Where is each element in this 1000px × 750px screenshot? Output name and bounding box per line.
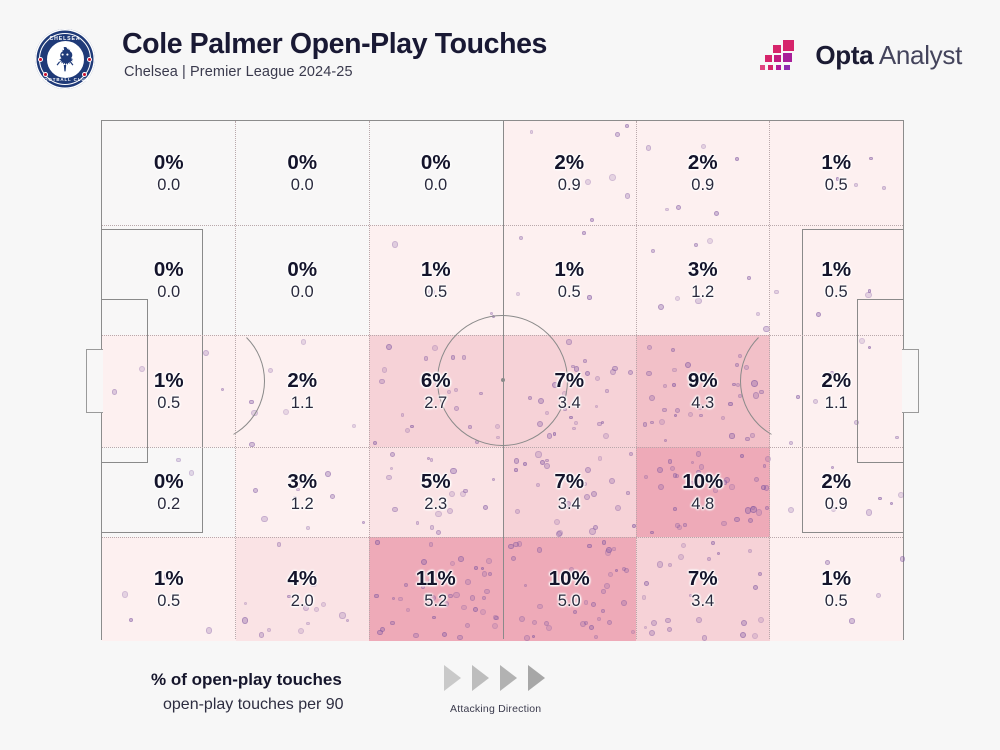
cell-percent: 0% <box>102 259 236 281</box>
cell-per-90: 0.5 <box>369 284 503 301</box>
cell-per-90: 3.4 <box>503 496 637 513</box>
cell-percent: 2% <box>503 152 637 174</box>
cell-per-90: 3.4 <box>503 395 637 412</box>
heatmap-cell-r1-c2: 0%0.0 <box>236 121 370 225</box>
heatmap-cell-r5-c6: 1%0.5 <box>770 537 904 641</box>
cell-percent: 7% <box>503 471 637 493</box>
cell-per-90: 3.4 <box>636 593 770 610</box>
cell-percent: 10% <box>636 471 770 493</box>
cell-per-90: 0.2 <box>102 496 236 513</box>
cell-percent: 1% <box>770 568 904 590</box>
cell-per-90: 0.9 <box>636 177 770 194</box>
page-subtitle: Chelsea | Premier League 2024-25 <box>124 64 353 80</box>
cell-per-90: 0.0 <box>102 284 236 301</box>
opta-wordmark: Opta Analyst <box>815 40 962 71</box>
cell-per-90: 0.0 <box>236 284 370 301</box>
cell-percent: 0% <box>102 152 236 174</box>
heatmap-cell-r4-c2: 3%1.2 <box>236 447 370 537</box>
heatmap-cell-r2-c4: 1%0.5 <box>503 225 637 335</box>
heatmap-cell-r1-c6: 1%0.5 <box>770 121 904 225</box>
cell-per-90: 0.5 <box>770 593 904 610</box>
heatmap-cell-r3-c6: 2%1.1 <box>770 335 904 447</box>
play-triangle-right-icon <box>500 665 517 691</box>
cell-percent: 7% <box>503 370 637 392</box>
cell-percent: 6% <box>369 370 503 392</box>
heatmap-cell-r1-c4: 2%0.9 <box>503 121 637 225</box>
cell-percent: 2% <box>236 370 370 392</box>
opta-analyst-logo: Opta Analyst <box>760 34 962 76</box>
cell-per-90: 0.5 <box>102 395 236 412</box>
cell-percent: 0% <box>102 471 236 493</box>
cell-per-90: 0.0 <box>102 177 236 194</box>
opta-staircase-squares-icon <box>760 37 806 73</box>
cell-percent: 3% <box>236 471 370 493</box>
cell-percent: 7% <box>636 568 770 590</box>
heatmap-grid: 0%0.00%0.00%0.02%0.92%0.91%0.50%0.00%0.0… <box>102 121 903 639</box>
cell-percent: 2% <box>770 370 904 392</box>
heatmap-cell-r2-c1: 0%0.0 <box>102 225 236 335</box>
heatmap-cell-r5-c4: 10%5.0 <box>503 537 637 641</box>
cell-per-90: 1.2 <box>236 496 370 513</box>
cell-percent: 5% <box>369 471 503 493</box>
heatmap-cell-r2-c6: 1%0.5 <box>770 225 904 335</box>
play-triangle-right-icon <box>472 665 489 691</box>
page-title: Cole Palmer Open-Play Touches <box>122 28 547 61</box>
cell-percent: 4% <box>236 568 370 590</box>
cell-per-90: 0.5 <box>770 284 904 301</box>
header: CHELSEA FOOTBALL CLUB Cole Palmer Open-P… <box>0 0 1000 110</box>
cell-percent: 0% <box>236 259 370 281</box>
footer-legend: % of open-play touches open-play touches… <box>0 655 1000 750</box>
cell-percent: 10% <box>503 568 637 590</box>
cell-per-90: 0.5 <box>102 593 236 610</box>
heatmap-cell-r5-c2: 4%2.0 <box>236 537 370 641</box>
cell-per-90: 2.3 <box>369 496 503 513</box>
heatmap-cell-r4-c4: 7%3.4 <box>503 447 637 537</box>
cell-per-90: 0.9 <box>503 177 637 194</box>
cell-per-90: 0.9 <box>770 496 904 513</box>
cell-percent: 0% <box>236 152 370 174</box>
heatmap-cell-r3-c3: 6%2.7 <box>369 335 503 447</box>
heatmap-cell-r3-c1: 1%0.5 <box>102 335 236 447</box>
heatmap-cell-r2-c3: 1%0.5 <box>369 225 503 335</box>
heatmap-cell-r4-c1: 0%0.2 <box>102 447 236 537</box>
cell-per-90: 1.1 <box>236 395 370 412</box>
cell-per-90: 0.5 <box>770 177 904 194</box>
play-triangle-right-icon <box>528 665 545 691</box>
heatmap-cell-r5-c1: 1%0.5 <box>102 537 236 641</box>
cell-per-90: 0.0 <box>369 177 503 194</box>
cell-per-90: 4.3 <box>636 395 770 412</box>
opta-word-light: Analyst <box>873 40 962 70</box>
cell-per-90: 0.0 <box>236 177 370 194</box>
heatmap-cell-r5-c3: 11%5.2 <box>369 537 503 641</box>
heatmap-cell-r5-c5: 7%3.4 <box>636 537 770 641</box>
attacking-direction-label: Attacking Direction <box>450 703 541 715</box>
cell-percent: 1% <box>503 259 637 281</box>
legend-primary-label: % of open-play touches <box>151 670 342 690</box>
attacking-direction-arrows <box>444 665 545 691</box>
heatmap-cell-r4-c6: 2%0.9 <box>770 447 904 537</box>
goal-left <box>86 349 103 413</box>
heatmap-cell-r2-c5: 3%1.2 <box>636 225 770 335</box>
crest-text-bottom: FOOTBALL CLUB <box>30 77 100 82</box>
heatmap-cell-r3-c2: 2%1.1 <box>236 335 370 447</box>
goal-right <box>902 349 919 413</box>
cell-percent: 3% <box>636 259 770 281</box>
cell-percent: 1% <box>770 259 904 281</box>
cell-percent: 11% <box>369 568 503 590</box>
cell-percent: 1% <box>102 568 236 590</box>
cell-percent: 1% <box>102 370 236 392</box>
legend-secondary-label: open-play touches per 90 <box>163 696 344 714</box>
pitch-heatmap: 0%0.00%0.00%0.02%0.92%0.91%0.50%0.00%0.0… <box>101 120 904 640</box>
heatmap-cell-r4-c5: 10%4.8 <box>636 447 770 537</box>
cell-percent: 2% <box>636 152 770 174</box>
cell-per-90: 0.5 <box>503 284 637 301</box>
heatmap-cell-r4-c3: 5%2.3 <box>369 447 503 537</box>
cell-per-90: 1.1 <box>770 395 904 412</box>
rampant-lion-icon <box>46 40 85 79</box>
cell-percent: 2% <box>770 471 904 493</box>
play-triangle-right-icon <box>444 665 461 691</box>
cell-percent: 1% <box>369 259 503 281</box>
heatmap-cell-r2-c2: 0%0.0 <box>236 225 370 335</box>
heatmap-cell-r3-c4: 7%3.4 <box>503 335 637 447</box>
crest-text-top: CHELSEA <box>30 36 100 42</box>
cell-per-90: 2.7 <box>369 395 503 412</box>
heatmap-cell-r1-c1: 0%0.0 <box>102 121 236 225</box>
cell-per-90: 2.0 <box>236 593 370 610</box>
opta-word-bold: Opta <box>815 40 873 70</box>
cell-percent: 1% <box>770 152 904 174</box>
touch-map-infographic: CHELSEA FOOTBALL CLUB Cole Palmer Open-P… <box>0 0 1000 750</box>
cell-per-90: 4.8 <box>636 496 770 513</box>
cell-per-90: 5.2 <box>369 593 503 610</box>
cell-per-90: 1.2 <box>636 284 770 301</box>
heatmap-cell-r1-c3: 0%0.0 <box>369 121 503 225</box>
cell-per-90: 5.0 <box>503 593 637 610</box>
chelsea-club-crest-icon: CHELSEA FOOTBALL CLUB <box>30 24 100 94</box>
heatmap-cell-r1-c5: 2%0.9 <box>636 121 770 225</box>
heatmap-cell-r3-c5: 9%4.3 <box>636 335 770 447</box>
cell-percent: 0% <box>369 152 503 174</box>
cell-percent: 9% <box>636 370 770 392</box>
